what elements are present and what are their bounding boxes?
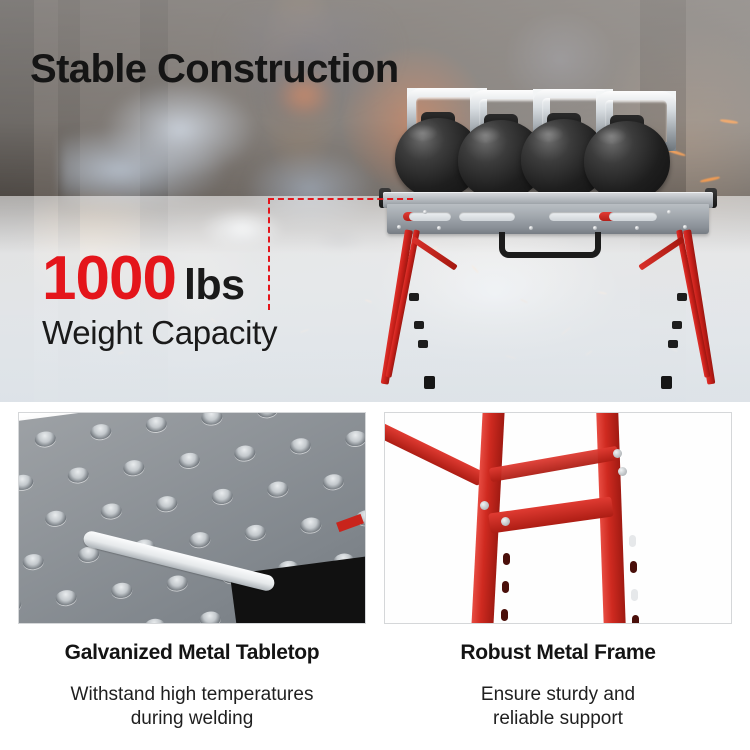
callout-horizontal-segment — [268, 198, 413, 200]
tabletop-hole — [244, 524, 267, 542]
tabletop-hole — [199, 610, 222, 624]
feature-cards: Galvanized Metal Tabletop Withstand high… — [0, 412, 750, 750]
leg-adjust-clamp — [418, 340, 428, 348]
tabletop-hole — [289, 437, 312, 455]
adjust-hole — [632, 615, 639, 624]
tabletop-hole — [100, 502, 123, 520]
tabletop-hole — [256, 412, 279, 419]
leg-adjust-clamp — [414, 321, 424, 329]
tabletop-hole — [44, 510, 67, 528]
pivot-bolt — [613, 449, 622, 458]
adjust-hole — [629, 535, 636, 547]
rivet — [635, 226, 639, 230]
tabletop-hole — [155, 495, 178, 513]
apron-slot — [409, 212, 451, 221]
tabletop-hole — [110, 582, 133, 600]
leg-brace-right — [638, 237, 684, 271]
weight-capacity-block: 1000lbs Weight Capacity — [42, 248, 277, 352]
leg-front-right — [683, 229, 715, 384]
card-title-frame: Robust Metal Frame — [384, 641, 732, 665]
frame-leg-right — [596, 413, 625, 624]
tabletop-hole — [22, 553, 45, 571]
apron-slot — [609, 212, 657, 221]
adjust-hole — [630, 561, 637, 573]
diagonal-strut — [384, 421, 485, 486]
pivot-bolt — [501, 517, 510, 526]
kettlebell-body — [584, 121, 670, 201]
leg-adjust-clamp — [668, 340, 678, 348]
adjust-hole — [503, 553, 510, 565]
rivet — [423, 210, 427, 214]
leg-adjust-clamp — [672, 321, 682, 329]
tabletop-hole — [145, 416, 168, 434]
tabletop-illustration — [19, 413, 365, 623]
tabletop-hole — [166, 574, 189, 592]
tabletop-photo — [18, 412, 366, 624]
tabletop-hole — [34, 430, 57, 448]
tabletop-hole — [67, 466, 90, 484]
leg-brace-left — [411, 237, 457, 271]
card-subtitle-line2: reliable support — [493, 708, 623, 729]
rivet — [593, 226, 597, 230]
leg-foot — [424, 376, 435, 389]
capacity-label: Weight Capacity — [42, 314, 277, 352]
rivet — [529, 226, 533, 230]
pivot-bolt — [480, 501, 489, 510]
tabletop-hole — [55, 589, 78, 607]
adjust-hole — [501, 609, 508, 621]
carry-handle — [499, 232, 601, 258]
tabletop-hole — [322, 473, 345, 491]
tabletop-hole — [18, 596, 22, 614]
cross-brace — [488, 496, 614, 533]
leg-foot — [661, 376, 672, 389]
tabletop-hole — [122, 459, 145, 477]
tabletop-hole — [143, 618, 166, 624]
capacity-number: 1000 — [42, 244, 176, 313]
card-subtitle-line1: Ensure sturdy and — [481, 684, 635, 705]
pivot-bolt — [618, 467, 627, 476]
card-subtitle-tabletop: Withstand high temperatures during weldi… — [18, 683, 366, 732]
capacity-callout-line — [268, 198, 413, 310]
tabletop-hole — [344, 430, 366, 448]
tabletop-hole — [299, 516, 322, 534]
leg-adjust-clamp — [677, 293, 687, 301]
feature-card-frame: Robust Metal Frame Ensure sturdy and rel… — [384, 412, 732, 750]
card-subtitle-line2: during welding — [131, 708, 254, 729]
product-feature-image: Stable Construction 1000lbs Weight Capac… — [0, 0, 750, 750]
tabletop-hole — [18, 474, 34, 492]
tabletop-hole — [89, 423, 112, 441]
tabletop-hole — [188, 531, 211, 549]
rivet — [683, 225, 687, 229]
apron-slot — [459, 212, 515, 221]
tabletop-hole — [200, 412, 223, 426]
capacity-value-row: 1000lbs — [42, 248, 277, 310]
rivet — [437, 226, 441, 230]
card-subtitle-frame: Ensure sturdy and reliable support — [384, 683, 732, 732]
capacity-unit: lbs — [184, 261, 245, 309]
card-subtitle-line1: Withstand high temperatures — [71, 684, 314, 705]
frame-illustration — [385, 413, 731, 623]
feature-card-tabletop: Galvanized Metal Tabletop Withstand high… — [18, 412, 366, 750]
frame-photo — [384, 412, 732, 624]
adjust-hole — [631, 589, 638, 601]
tabletop-hole — [211, 488, 234, 506]
adjust-hole — [502, 581, 509, 593]
workbench-product — [383, 88, 713, 398]
tabletop-hole — [365, 588, 366, 606]
page-title: Stable Construction — [30, 49, 399, 89]
tabletop-hole — [233, 444, 256, 462]
tabletop-hole — [266, 480, 289, 498]
card-title-tabletop: Galvanized Metal Tabletop — [18, 641, 366, 665]
hero-panel: Stable Construction 1000lbs Weight Capac… — [0, 0, 750, 402]
tabletop-hole — [178, 452, 201, 470]
apron-slot — [549, 212, 605, 221]
rivet — [667, 210, 671, 214]
